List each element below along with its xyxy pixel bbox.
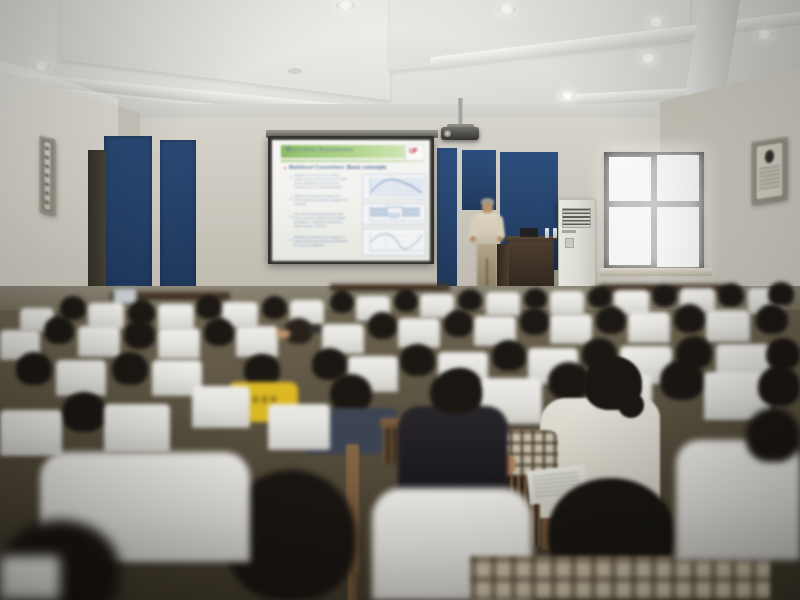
water-bottle [545, 228, 549, 238]
downlight [560, 92, 575, 100]
chair-cover [158, 304, 194, 330]
chair-cover [628, 312, 670, 343]
presenter-leg-gap [486, 258, 488, 288]
attendee-head [652, 284, 677, 307]
photographer-arm [276, 330, 290, 338]
row-desk [330, 284, 450, 291]
attendee-head [524, 288, 547, 309]
attendee-head [204, 318, 234, 346]
chair-cover [0, 410, 62, 456]
chair-cover [236, 326, 278, 357]
presenter-hand-left [470, 236, 476, 242]
attendee-head [596, 306, 626, 334]
water-bottle [553, 228, 557, 238]
attendee-hair-bun [618, 392, 644, 418]
attendee-head [62, 392, 106, 432]
window-glass [657, 207, 699, 267]
downlight [497, 4, 516, 14]
chair-cover [158, 328, 200, 359]
attendee-head [458, 289, 482, 311]
chart-switching-pattern [362, 203, 426, 225]
window-glass [657, 155, 699, 201]
downlight [336, 1, 355, 10]
attendee-head [394, 290, 418, 312]
slide-sub-bullet: The initial technical drawbacks have bee… [294, 213, 348, 229]
ac-vent [562, 208, 591, 228]
attendee-head [492, 340, 526, 371]
attendee-head [674, 304, 705, 333]
framed-scroll-left [40, 136, 55, 215]
attendee-head [768, 282, 794, 306]
attendee-head [758, 366, 800, 406]
laptop [520, 228, 538, 237]
plaque-text [759, 165, 780, 190]
attendee-head [44, 316, 74, 344]
downlight [647, 17, 665, 27]
downlight [756, 30, 773, 39]
bullet-marker [284, 167, 286, 169]
downlight [640, 54, 657, 63]
chair-cover [706, 310, 750, 342]
attendee-head [196, 295, 222, 319]
lectern-side [497, 244, 509, 290]
attendee-head [756, 304, 788, 334]
attendee-head [718, 283, 744, 307]
attendee-head [766, 338, 800, 370]
slide-sub-bullet: Multilevel converters increase the outpu… [294, 195, 348, 207]
slide-sub-bullet: Multilevel converters are nowadays a mat… [294, 236, 348, 248]
scroll-glyphs [45, 146, 49, 205]
attendee-head [262, 296, 287, 319]
framed-portrait-right [752, 137, 787, 205]
presenter-hand-right [497, 236, 503, 242]
chair-cover [78, 326, 120, 357]
chair-cover [550, 291, 584, 315]
sub-bullet-dash [290, 239, 292, 240]
door-frame-left [88, 150, 106, 300]
window-glass [609, 207, 651, 265]
chair-cover [192, 386, 250, 428]
foreground-head [746, 408, 800, 462]
attendee-head [330, 374, 372, 412]
chair-cover [56, 360, 106, 396]
slide-title-bar: Multilevel Converters [281, 145, 424, 158]
sub-bullet-dash [290, 177, 292, 178]
attendee-head [400, 344, 435, 376]
ac-brand-label [562, 230, 576, 233]
logo-mark: UF [409, 148, 417, 155]
chart-sine-output [362, 228, 426, 256]
slide-figures [362, 174, 424, 259]
slide-bullet-heading: Multilevel Converters: Basic concepts [289, 165, 386, 171]
attendee-head [588, 286, 612, 308]
slide-title: Multilevel Converters [286, 147, 353, 153]
acoustic-panel-blue [104, 136, 152, 296]
attendee-head [368, 312, 397, 339]
camera [310, 325, 321, 333]
chart-pwm-carriers [362, 174, 426, 200]
attendee-head [430, 370, 482, 414]
sub-bullet-dash [290, 198, 292, 199]
projector-lens [444, 130, 451, 137]
downlight [33, 62, 50, 71]
chair-cover [0, 556, 60, 600]
chair-leg [348, 572, 358, 600]
attendee-head [444, 310, 473, 337]
acoustic-panel-blue [437, 148, 457, 288]
plaid-shirt [470, 556, 770, 600]
smoke-detector [288, 68, 302, 74]
acoustic-panel-blue [160, 140, 196, 296]
attendee-head [16, 352, 52, 385]
sub-bullet-dash [290, 216, 292, 217]
chair-cover [550, 314, 592, 344]
window-glass [609, 157, 651, 201]
lectern [508, 239, 554, 291]
chair-cover [268, 404, 330, 450]
slide-content: Multilevel Converters UF Multilevel Conv… [272, 140, 430, 261]
ac-control-panel [565, 238, 574, 248]
attendee-head [112, 352, 148, 385]
window-sill [600, 268, 712, 276]
university-logo: UF [405, 144, 425, 161]
attendee-head [124, 320, 155, 349]
lecture-hall-photo: Multilevel Converters UF Multilevel Conv… [0, 0, 800, 600]
chair-cover [486, 292, 520, 316]
attendee-head [660, 360, 704, 400]
slide-sub-bullet: Multilevel converters use medium-voltage… [294, 174, 348, 190]
chair-cover [104, 404, 170, 452]
attendee-torso [398, 406, 508, 496]
attendee-head [520, 308, 549, 335]
attendee-head [330, 291, 354, 313]
slide-title-underline [281, 160, 424, 162]
